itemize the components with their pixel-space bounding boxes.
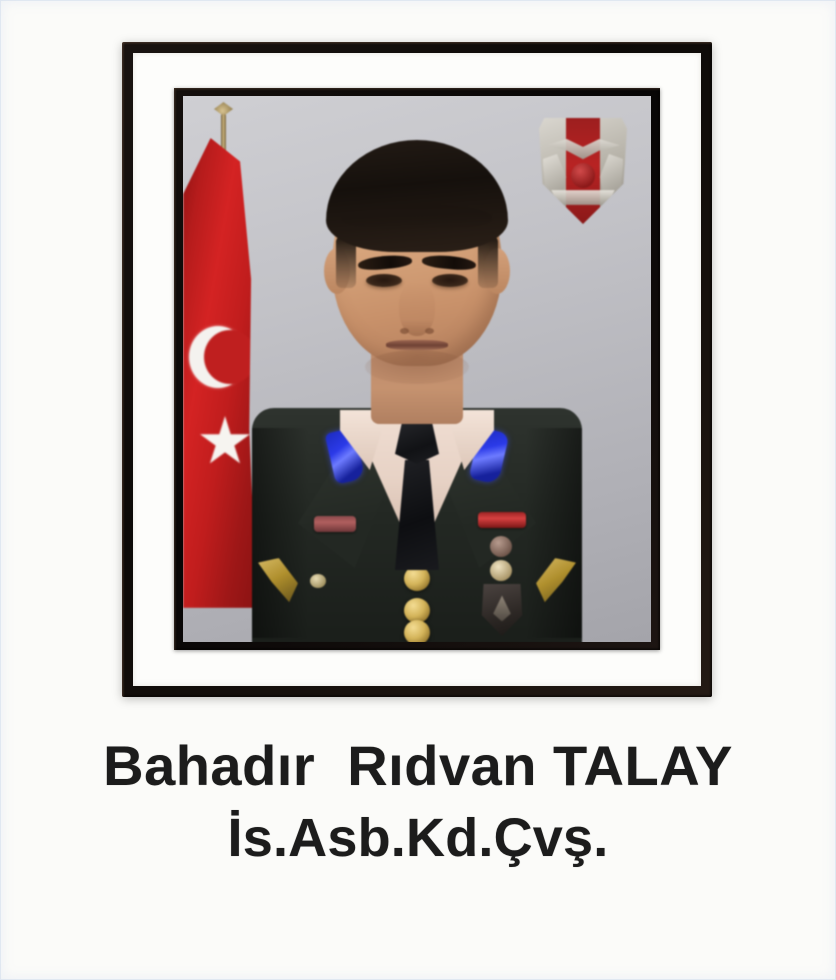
nostril-right xyxy=(425,328,434,334)
ribbon-bar-right-icon xyxy=(478,512,526,528)
eye-right xyxy=(432,274,468,287)
medal-lower-icon xyxy=(490,560,512,581)
eyebrow-left xyxy=(358,254,413,272)
ribbon-bar-left-icon xyxy=(314,516,356,532)
eyebrow-right xyxy=(422,254,477,272)
jacket-button-lower xyxy=(404,620,430,642)
portrait-subject xyxy=(252,122,582,642)
photo-mat xyxy=(133,53,701,686)
memorial-portrait-page: Bahadır Rıdvan TALAY İs.Asb.Kd.Çvş. xyxy=(0,0,836,980)
eye-left xyxy=(366,274,402,287)
chin-shadow xyxy=(365,350,469,384)
jacket-shadow-left xyxy=(252,428,308,638)
medal-upper-icon xyxy=(490,536,512,557)
jacket-shadow-right xyxy=(526,428,582,638)
flag-crescent-icon xyxy=(189,326,247,388)
outer-picture-frame xyxy=(122,42,712,697)
inner-picture-frame xyxy=(174,88,660,650)
mouth xyxy=(386,340,448,350)
portrait-photograph xyxy=(183,96,651,642)
nostril-left xyxy=(400,328,409,334)
flag-star-icon xyxy=(199,416,251,468)
photograph-content xyxy=(183,96,651,642)
qualification-badge-icon xyxy=(480,584,524,636)
pocket-button-left xyxy=(310,574,326,588)
caption-block: Bahadır Rıdvan TALAY İs.Asb.Kd.Çvş. xyxy=(0,735,836,868)
subject-name: Bahadır Rıdvan TALAY xyxy=(0,735,836,798)
subject-hair xyxy=(326,140,508,252)
subject-rank: İs.Asb.Kd.Çvş. xyxy=(0,808,836,868)
